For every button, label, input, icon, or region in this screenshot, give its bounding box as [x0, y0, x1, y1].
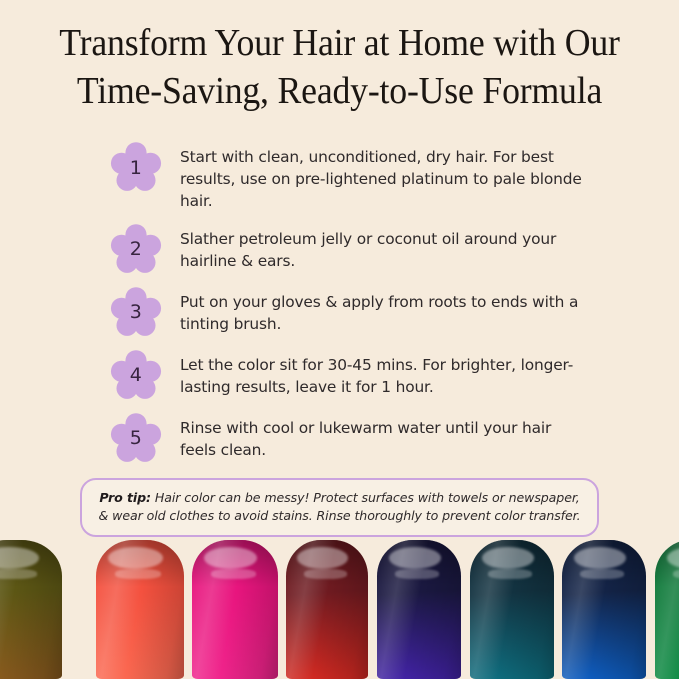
pro-tip-box: Pro tip: Hair color can be messy! Protec…: [80, 478, 599, 537]
swatch-highlight-primary: [574, 547, 626, 569]
flower-badge-icon: 5: [110, 413, 162, 465]
step-item: 4Let the color sit for 30-45 mins. For b…: [110, 350, 590, 402]
flower-badge-icon: 2: [110, 224, 162, 276]
step-item: 1Start with clean, unconditioned, dry ha…: [110, 142, 590, 213]
dye-swatch-teal: [470, 540, 554, 679]
swatch-highlight-secondary: [304, 569, 347, 579]
dye-swatch-green: [655, 540, 679, 679]
dye-swatch-deep-red: [286, 540, 368, 679]
steps-list: 1Start with clean, unconditioned, dry ha…: [110, 142, 590, 476]
flower-badge-icon: 4: [110, 350, 162, 402]
pro-tip-text: Pro tip: Hair color can be messy! Protec…: [98, 489, 581, 525]
swatch-highlight-secondary: [0, 569, 37, 579]
swatch-highlight-secondary: [115, 569, 161, 579]
title-line-2: Time-Saving, Ready-to-Use Formula: [49, 68, 631, 116]
dye-swatch-olive-brown: [0, 540, 62, 679]
swatch-highlight-primary: [482, 547, 534, 569]
step-text: Rinse with cool or lukewarm water until …: [180, 413, 590, 462]
step-item: 3Put on your gloves & apply from roots t…: [110, 287, 590, 339]
hair-dye-swatch-strip: [0, 531, 679, 679]
swatch-highlight-secondary: [395, 569, 439, 579]
dye-swatch-coral-red: [96, 540, 184, 679]
step-item: 5Rinse with cool or lukewarm water until…: [110, 413, 590, 465]
step-number: 1: [110, 142, 162, 194]
step-item: 2Slather petroleum jelly or coconut oil …: [110, 224, 590, 276]
step-text: Put on your gloves & apply from roots to…: [180, 287, 590, 336]
swatch-highlight-primary: [108, 547, 163, 569]
dye-swatch-indigo-purple: [377, 540, 461, 679]
swatch-highlight-secondary: [488, 569, 532, 579]
dye-swatch-blue: [562, 540, 646, 679]
step-number: 2: [110, 224, 162, 276]
step-text: Start with clean, unconditioned, dry hai…: [180, 142, 590, 213]
step-number: 4: [110, 350, 162, 402]
pro-tip-body: Hair color can be messy! Protect surface…: [99, 490, 581, 523]
page-title: Transform Your Hair at Home with Our Tim…: [30, 20, 649, 116]
dye-swatch-magenta-pink: [192, 540, 278, 679]
swatch-highlight-primary: [389, 547, 441, 569]
step-text: Slather petroleum jelly or coconut oil a…: [180, 224, 590, 273]
flower-badge-icon: 3: [110, 287, 162, 339]
infographic-page: Transform Your Hair at Home with Our Tim…: [0, 0, 679, 679]
swatch-highlight-secondary: [580, 569, 624, 579]
step-number: 3: [110, 287, 162, 339]
pro-tip-label: Pro tip:: [99, 490, 151, 505]
flower-badge-icon: 1: [110, 142, 162, 194]
swatch-highlight-secondary: [211, 569, 256, 579]
step-number: 5: [110, 413, 162, 465]
step-text: Let the color sit for 30-45 mins. For br…: [180, 350, 590, 399]
title-line-1: Transform Your Hair at Home with Our: [49, 20, 631, 68]
